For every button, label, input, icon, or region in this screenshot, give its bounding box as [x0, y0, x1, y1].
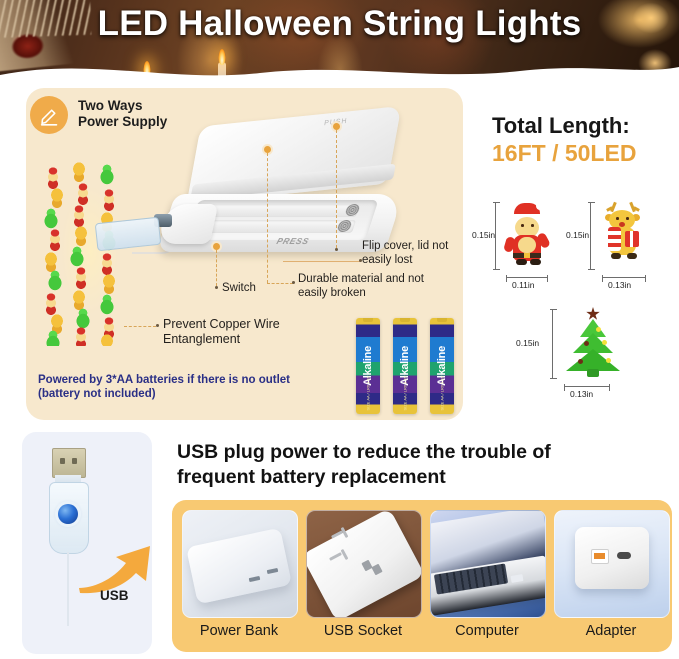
battery-spec-label: SIZE AA / LR6 1.5V	[440, 375, 445, 410]
power-bank-label: Power Bank	[182, 623, 296, 639]
battery-note: Powered by 3*AA batteries if there is no…	[38, 373, 338, 401]
callout-switch: Switch	[222, 282, 256, 296]
tree-figure	[564, 309, 624, 379]
aa-battery: Alkaline SIZE AA / LR6 1.5V	[393, 318, 417, 414]
adapter-label: Adapter	[554, 623, 668, 639]
orange-arrow-icon	[76, 532, 156, 594]
battery-spec-label: SIZE AA / LR6 1.5V	[366, 375, 371, 410]
santa-dimension-diagram: 0.15in 0.11in	[484, 198, 566, 290]
aa-batteries-image: Alkaline SIZE AA / LR6 1.5V Alkaline SIZ…	[356, 318, 454, 414]
usb-label: USB	[100, 588, 129, 603]
adapter-image	[554, 510, 670, 618]
reindeer-figure	[602, 202, 648, 268]
callout-prevent-copper-wire: Prevent Copper Wire Entanglement	[163, 317, 280, 347]
power-button	[58, 504, 78, 524]
tree-height-label: 0.15in	[516, 338, 539, 348]
tree-width-label: 0.13in	[570, 389, 593, 399]
pencil-icon	[30, 96, 68, 134]
page-title: LED Halloween String Lights	[0, 4, 679, 44]
total-length-value: 16FT / 50LED	[492, 140, 636, 167]
usb-socket-image	[306, 510, 422, 618]
callout-dot-switch	[213, 243, 220, 250]
reindeer-width-label: 0.13in	[608, 280, 631, 290]
usb-heading: USB plug power to reduce the trouble of …	[177, 440, 677, 490]
press-label: PRESS	[275, 236, 310, 246]
reindeer-dimension-diagram: 0.15in 0.13in	[578, 198, 670, 290]
santa-height-label: 0.15in	[472, 230, 495, 240]
callout-dot-flip	[333, 123, 340, 130]
santa-figure	[506, 203, 550, 269]
wave-divider	[0, 53, 679, 86]
aa-battery: Alkaline SIZE AA / LR6 1.5V	[356, 318, 380, 414]
reindeer-height-label: 0.15in	[566, 230, 589, 240]
adapter-card[interactable]: Adapter	[554, 510, 668, 652]
aa-battery: Alkaline SIZE AA / LR6 1.5V	[430, 318, 454, 414]
callout-dot-durable	[264, 146, 271, 153]
total-length-title: Total Length:	[492, 113, 630, 139]
led-string-strand-image	[38, 160, 142, 346]
usb-connector	[95, 217, 162, 252]
computer-image	[430, 510, 546, 618]
usb-socket-card[interactable]: USB Socket	[306, 510, 420, 652]
computer-label: Computer	[430, 623, 544, 639]
power-source-card-row: Power Bank USB Socket Computer	[172, 500, 672, 652]
callout-flip-cover: Flip cover, lid not easily lost	[362, 240, 448, 267]
tree-dimension-diagram: 0.15in 0.13in	[508, 305, 618, 405]
power-bank-image	[182, 510, 298, 618]
battery-spec-label: SIZE AA / LR6 1.5V	[403, 375, 408, 410]
usb-connector-head	[52, 448, 86, 478]
header-banner: LED Halloween String Lights	[0, 0, 679, 86]
santa-width-label: 0.11in	[512, 280, 535, 290]
power-bank-card[interactable]: Power Bank	[182, 510, 296, 652]
callout-durable-material: Durable material and not easily broken	[298, 273, 424, 300]
product-infographic: LED Halloween String Lights Two Ways Pow…	[0, 0, 679, 659]
cord	[67, 552, 69, 626]
computer-card[interactable]: Computer	[430, 510, 544, 652]
usb-socket-label: USB Socket	[306, 623, 420, 639]
